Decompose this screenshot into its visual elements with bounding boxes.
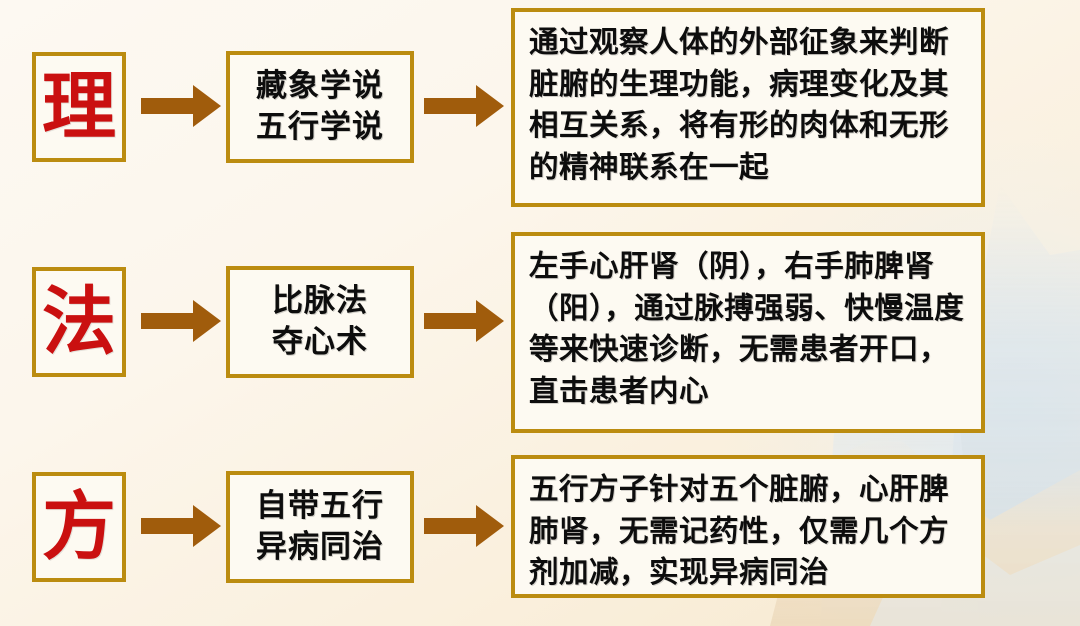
concept-line-1: 藏象学说 — [256, 66, 384, 107]
description-box-2[interactable]: 左手心肝肾（阴），右手肺脾肾（阳），通过脉搏强弱、快慢温度等来快速诊断，无需患者… — [511, 232, 985, 433]
arrow-right-icon — [141, 502, 221, 550]
description-text: 左手心肝肾（阴），右手肺脾肾（阳），通过脉搏强弱、快慢温度等来快速诊断，无需患者… — [529, 246, 969, 412]
concept-line-2: 异病同治 — [256, 527, 384, 568]
concept-box-1[interactable]: 藏象学说 五行学说 — [226, 51, 414, 163]
key-character-box-1[interactable]: 理 — [32, 52, 126, 162]
key-character-box-3[interactable]: 方 — [32, 472, 126, 582]
concept-box-3[interactable]: 自带五行 异病同治 — [226, 471, 414, 583]
arrow-right-icon — [424, 297, 504, 345]
arrow-right-icon — [424, 82, 504, 130]
concept-line-2: 五行学说 — [256, 107, 384, 148]
arrow-right-icon — [141, 82, 221, 130]
key-character-label: 法 — [42, 285, 116, 359]
diagram-canvas: 理 藏象学说 五行学说 通过观察人体的外部征象来判断脏腑的生理功能，病理变化及其… — [0, 0, 1080, 626]
flow-row-3: 方 自带五行 异病同治 五行方子针对五个脏腑，心肝脾肺肾，无需记药性，仅需几个方… — [0, 440, 1080, 626]
description-box-3[interactable]: 五行方子针对五个脏腑，心肝脾肺肾，无需记药性，仅需几个方剂加减，实现异病同治 — [511, 455, 985, 598]
key-character-label: 方 — [42, 490, 116, 564]
description-box-1[interactable]: 通过观察人体的外部征象来判断脏腑的生理功能，病理变化及其相互关系，将有形的肉体和… — [511, 8, 985, 207]
key-character-box-2[interactable]: 法 — [32, 267, 126, 377]
flow-row-2: 法 比脉法 夺心术 左手心肝肾（阴），右手肺脾肾（阳），通过脉搏强弱、快慢温度等… — [0, 215, 1080, 430]
flow-row-1: 理 藏象学说 五行学说 通过观察人体的外部征象来判断脏腑的生理功能，病理变化及其… — [0, 0, 1080, 215]
key-character-label: 理 — [42, 70, 116, 144]
description-text: 五行方子针对五个脏腑，心肝脾肺肾，无需记药性，仅需几个方剂加减，实现异病同治 — [529, 469, 969, 594]
arrow-right-icon — [141, 297, 221, 345]
concept-line-1: 比脉法 — [272, 281, 368, 322]
concept-line-1: 自带五行 — [256, 486, 384, 527]
concept-line-2: 夺心术 — [272, 322, 368, 363]
description-text: 通过观察人体的外部征象来判断脏腑的生理功能，病理变化及其相互关系，将有形的肉体和… — [529, 22, 969, 188]
arrow-right-icon — [424, 502, 504, 550]
concept-box-2[interactable]: 比脉法 夺心术 — [226, 266, 414, 378]
